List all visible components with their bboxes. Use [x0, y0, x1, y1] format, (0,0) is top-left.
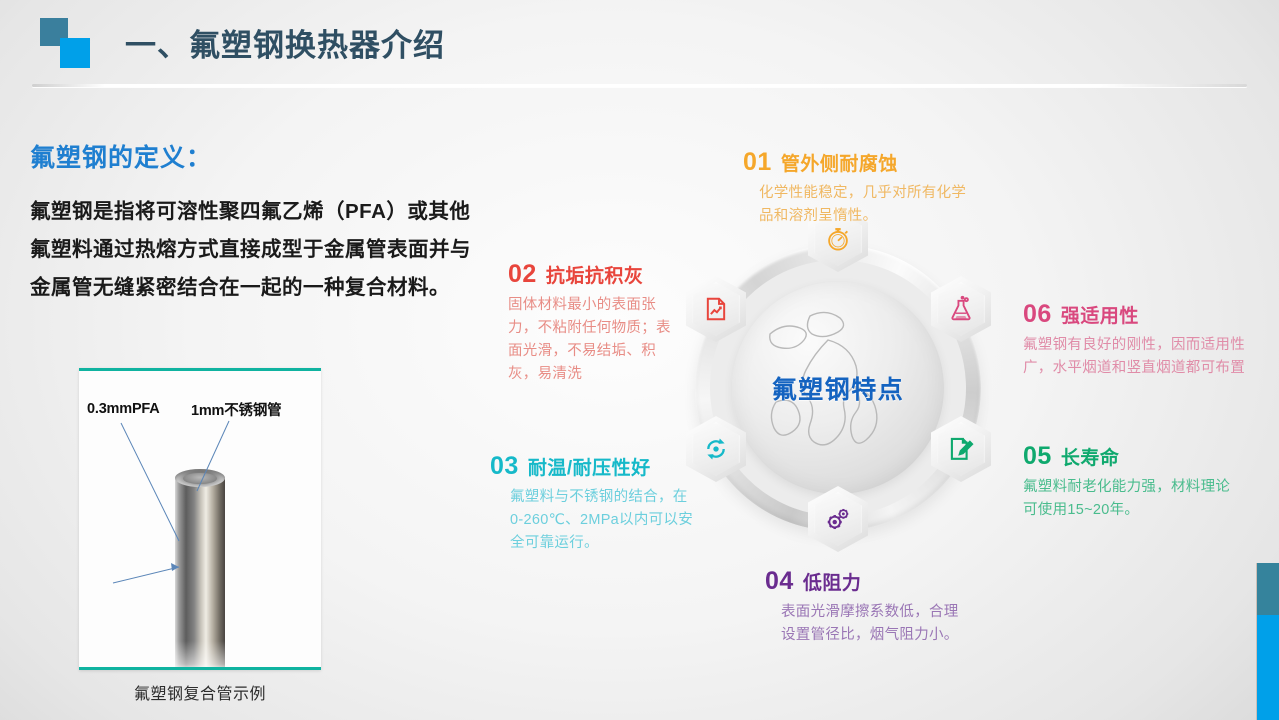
definition-body: 氟塑钢是指将可溶性聚四氟乙烯（PFA）或其他氟塑料通过热熔方式直接成型于金属管表…	[30, 193, 485, 307]
gears-icon	[824, 505, 852, 533]
feature-desc-05: 氟塑料耐老化能力强，材料理论可使用15~20年。	[1023, 476, 1238, 522]
feature-head-01: 01管外侧耐腐蚀	[743, 148, 968, 177]
feature-title-05: 长寿命	[1061, 448, 1120, 469]
feature-number-01: 01	[743, 148, 772, 176]
feature-item-03: 03耐温/耐压性好 氟塑料与不锈钢的结合，在0-260℃、2MPa以内可以安全可…	[490, 452, 695, 555]
feature-number-03: 03	[490, 452, 519, 480]
feature-number-06: 06	[1023, 300, 1052, 328]
edge-bar-teal	[1257, 563, 1279, 615]
stopwatch-icon	[824, 225, 852, 253]
feature-item-01: 01管外侧耐腐蚀 化学性能稳定，几乎对所有化学品和溶剂呈惰性。	[743, 148, 968, 228]
badge-flask[interactable]	[931, 276, 991, 342]
page-title: 一、氟塑钢换热器介绍	[125, 20, 445, 65]
definition-heading: 氟塑钢的定义：	[30, 138, 212, 174]
feature-desc-04: 表面光滑摩擦系数低，合理设置管径比，烟气阻力小。	[781, 601, 970, 647]
header-divider	[32, 84, 1247, 87]
feature-head-03: 03耐温/耐压性好	[490, 452, 695, 481]
feature-item-04: 04低阻力 表面光滑摩擦系数低，合理设置管径比，烟气阻力小。	[765, 567, 970, 647]
feature-head-04: 04低阻力	[765, 567, 970, 596]
feature-title-03: 耐温/耐压性好	[528, 458, 651, 479]
header-square-blue-icon	[60, 38, 90, 68]
feature-desc-01: 化学性能稳定，几乎对所有化学品和溶剂呈惰性。	[759, 182, 968, 228]
refresh-cycle-icon	[702, 435, 730, 463]
feature-head-05: 05长寿命	[1023, 442, 1238, 471]
document-edit-icon	[947, 435, 975, 463]
slide-header: 一、氟塑钢换热器介绍	[0, 0, 1279, 95]
badge-gears[interactable]	[808, 486, 868, 552]
center-label: 氟塑钢特点	[732, 370, 944, 406]
feature-number-02: 02	[508, 260, 537, 288]
feature-title-01: 管外侧耐腐蚀	[781, 154, 898, 175]
document-chart-icon	[702, 295, 730, 323]
feature-number-04: 04	[765, 567, 794, 595]
badge-refresh-cycle[interactable]	[686, 416, 746, 482]
feature-title-06: 强适用性	[1061, 306, 1139, 327]
feature-desc-02: 固体材料最小的表面张力，不粘附任何物质；表面光滑，不易结垢、积灰，易清洗	[508, 294, 673, 386]
features-infographic: 氟塑钢特点	[470, 110, 1270, 720]
flask-icon	[947, 295, 975, 323]
badge-document-edit[interactable]	[931, 416, 991, 482]
photo-caption: 氟塑钢复合管示例	[79, 680, 321, 704]
composite-pipe-photo: 0.3mmPFA 1mm不锈钢管	[79, 368, 321, 670]
photo-label-steel: 1mm不锈钢管	[191, 399, 281, 420]
globe-graphic: 氟塑钢特点	[732, 282, 944, 494]
feature-desc-06: 氟塑钢有良好的刚性，因而适用性广，水平烟道和竖直烟道都可布置	[1023, 334, 1258, 380]
feature-number-05: 05	[1023, 442, 1052, 470]
feature-title-02: 抗垢抗积灰	[546, 266, 644, 287]
feature-title-04: 低阻力	[803, 573, 862, 594]
feature-item-05: 05长寿命 氟塑料耐老化能力强，材料理论可使用15~20年。	[1023, 442, 1238, 522]
feature-item-02: 02抗垢抗积灰 固体材料最小的表面张力，不粘附任何物质；表面光滑，不易结垢、积灰…	[508, 260, 673, 386]
photo-label-pfa: 0.3mmPFA	[87, 401, 160, 417]
edge-bar-blue	[1257, 615, 1279, 720]
feature-head-06: 06强适用性	[1023, 300, 1258, 329]
feature-desc-03: 氟塑料与不锈钢的结合，在0-260℃、2MPa以内可以安全可靠运行。	[510, 486, 695, 555]
feature-item-06: 06强适用性 氟塑钢有良好的刚性，因而适用性广，水平烟道和竖直烟道都可布置	[1023, 300, 1258, 380]
badge-document-chart[interactable]	[686, 276, 746, 342]
feature-head-02: 02抗垢抗积灰	[508, 260, 673, 289]
